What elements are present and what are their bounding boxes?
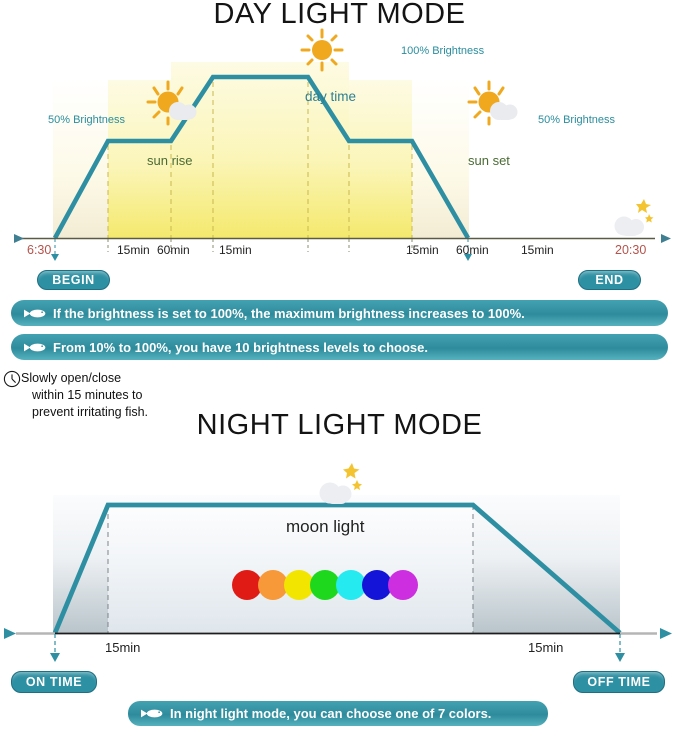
label-day-time: day time: [305, 89, 356, 104]
infographic-root: DAY LIGHT MODE: [0, 0, 679, 731]
night-segment-label-1: 15min: [105, 640, 140, 655]
banner-text: In night light mode, you can choose one …: [170, 707, 491, 720]
night-mode-title: NIGHT LIGHT MODE: [0, 409, 679, 442]
fish-icon: [24, 308, 46, 319]
banner-text: If the brightness is set to 100%, the ma…: [53, 307, 525, 320]
label-start-time: 6:30: [27, 243, 51, 257]
sun-icon: [300, 28, 344, 72]
end-button[interactable]: END: [578, 270, 641, 290]
on-time-button[interactable]: ON TIME: [11, 671, 97, 693]
cloud-shape: [320, 483, 352, 505]
band-sun-set: [349, 80, 412, 238]
label-brightness-left: 50% Brightness: [48, 114, 125, 126]
segment-label-6: 15min: [521, 243, 554, 257]
night-segment-label-2: 15min: [528, 640, 563, 655]
moon-stars-cloud-icon: [314, 460, 366, 508]
color-swatch-magenta[interactable]: [388, 570, 418, 600]
label-end-time: 20:30: [615, 243, 646, 257]
band-day-time: [213, 62, 308, 238]
label-sun-rise: sun rise: [147, 153, 193, 168]
cloud-shape: [490, 102, 518, 120]
clock-icon: [3, 370, 21, 388]
begin-button[interactable]: BEGIN: [37, 270, 110, 290]
fish-icon: [141, 708, 163, 719]
day-axis-arrow-left: [14, 234, 24, 243]
day-axis-arrow-right: [661, 234, 671, 243]
label-moon-light: moon light: [286, 517, 364, 537]
fish-icon: [24, 342, 46, 353]
night-axis-arrow-right: [660, 628, 672, 639]
moon-stars-cloud-icon: [609, 196, 657, 240]
note-line-1: Slowly open/close: [21, 371, 121, 385]
label-brightness-right: 50% Brightness: [538, 114, 615, 126]
info-banner-1: If the brightness is set to 100%, the ma…: [11, 300, 668, 326]
info-banner-2: From 10% to 100%, you have 10 brightness…: [11, 334, 668, 360]
cloud-shape: [615, 217, 645, 237]
segment-label-1: 15min: [117, 243, 150, 257]
label-brightness-top: 100% Brightness: [401, 45, 484, 57]
night-info-banner: In night light mode, you can choose one …: [128, 701, 548, 726]
segment-label-3: 15min: [219, 243, 252, 257]
note-line-2: within 15 minutes to: [21, 387, 148, 404]
segment-label-2: 60min: [157, 243, 190, 257]
day-axis-ticks: [108, 239, 412, 252]
segment-label-5: 60min: [456, 243, 489, 257]
sun-behind-cloud-icon: [466, 78, 524, 132]
label-sun-set: sun set: [468, 153, 510, 168]
sun-behind-cloud-icon: [145, 78, 203, 132]
cloud-shape: [169, 102, 197, 120]
off-time-button[interactable]: OFF TIME: [573, 671, 665, 693]
banner-text: From 10% to 100%, you have 10 brightness…: [53, 341, 428, 354]
segment-label-4: 15min: [406, 243, 439, 257]
color-swatch-row: [232, 570, 414, 600]
night-axis-arrow-left: [4, 628, 16, 639]
